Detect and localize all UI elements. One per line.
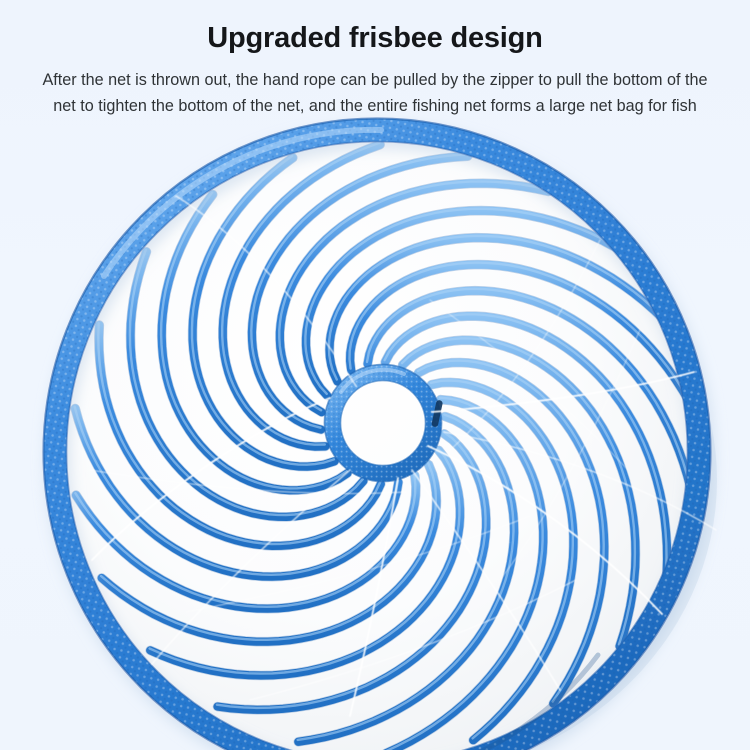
product-feature-page: Upgraded frisbee design After the net is… [0,0,750,750]
page-description: After the net is thrown out, the hand ro… [30,56,720,119]
page-title: Upgraded frisbee design [0,0,750,56]
header-text-block: Upgraded frisbee design After the net is… [0,0,750,119]
